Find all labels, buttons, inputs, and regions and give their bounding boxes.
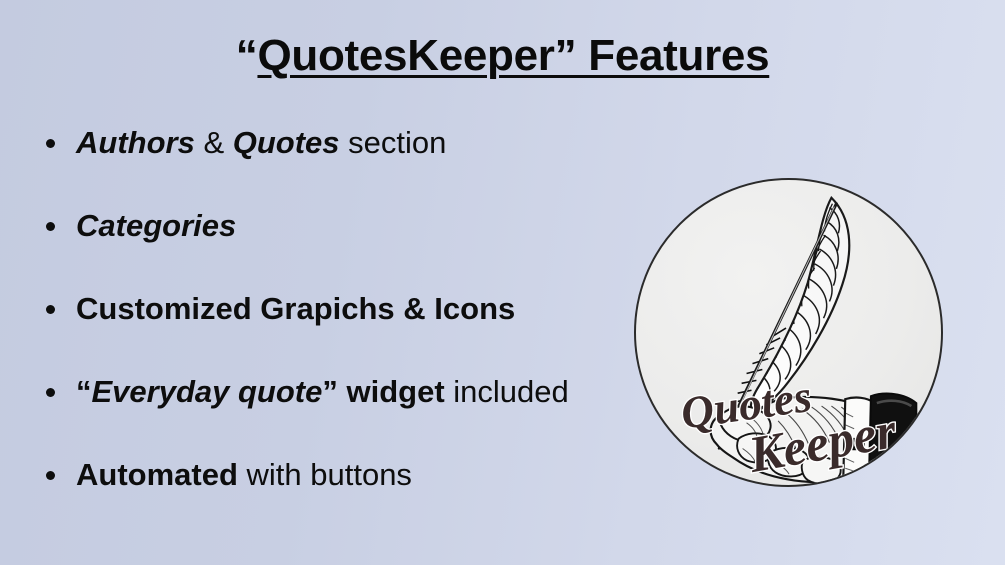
page-title: “QuotesKeeper” Features xyxy=(0,32,1005,80)
bullet-2-part-1: Categories xyxy=(76,208,236,243)
quill-hand-illustration: Quotes Keeper xyxy=(636,180,941,485)
bullet-4-part-2: Everyday quote xyxy=(92,374,323,409)
bullet-1-part-2: & xyxy=(195,125,233,160)
bullet-3-part-1: Customized Grapichs & Icons xyxy=(76,291,515,326)
list-item: Automated with buttons xyxy=(40,458,640,492)
slide-title-text: “QuotesKeeper” Features xyxy=(236,32,770,80)
quoteskeeper-logo: Quotes Keeper xyxy=(634,178,943,487)
list-item: Categories xyxy=(40,209,640,243)
logo-wordmark: Quotes Keeper xyxy=(678,371,902,484)
title-underlined-text: QuotesKeeper” Features xyxy=(257,31,769,80)
bullet-4-part-5: included xyxy=(445,374,569,409)
bullet-1-part-3: Quotes xyxy=(233,125,340,160)
slide-canvas: “QuotesKeeper” Features Authors & Quotes… xyxy=(0,0,1005,565)
bullet-5-part-1: Automated xyxy=(76,457,238,492)
list-item: Authors & Quotes section xyxy=(40,126,640,160)
bullet-4-part-1: “ xyxy=(76,374,92,409)
bullet-dot-icon xyxy=(46,139,55,148)
bullet-1-part-1: Authors xyxy=(76,125,195,160)
bullet-dot-icon xyxy=(46,471,55,480)
bullet-5-part-2: with buttons xyxy=(238,457,412,492)
bullet-4-part-3: ” xyxy=(322,374,338,409)
list-item: Customized Grapichs & Icons xyxy=(40,292,640,326)
feature-bullet-list: Authors & Quotes section Categories Cust… xyxy=(40,126,640,492)
bullet-dot-icon xyxy=(46,388,55,397)
bullet-4-part-4: widget xyxy=(338,374,445,409)
list-item: “Everyday quote” widget included xyxy=(40,375,640,409)
bullet-dot-icon xyxy=(46,305,55,314)
title-open-quote: “ xyxy=(236,31,258,80)
bullet-dot-icon xyxy=(46,222,55,231)
bullet-1-part-4: section xyxy=(340,125,447,160)
